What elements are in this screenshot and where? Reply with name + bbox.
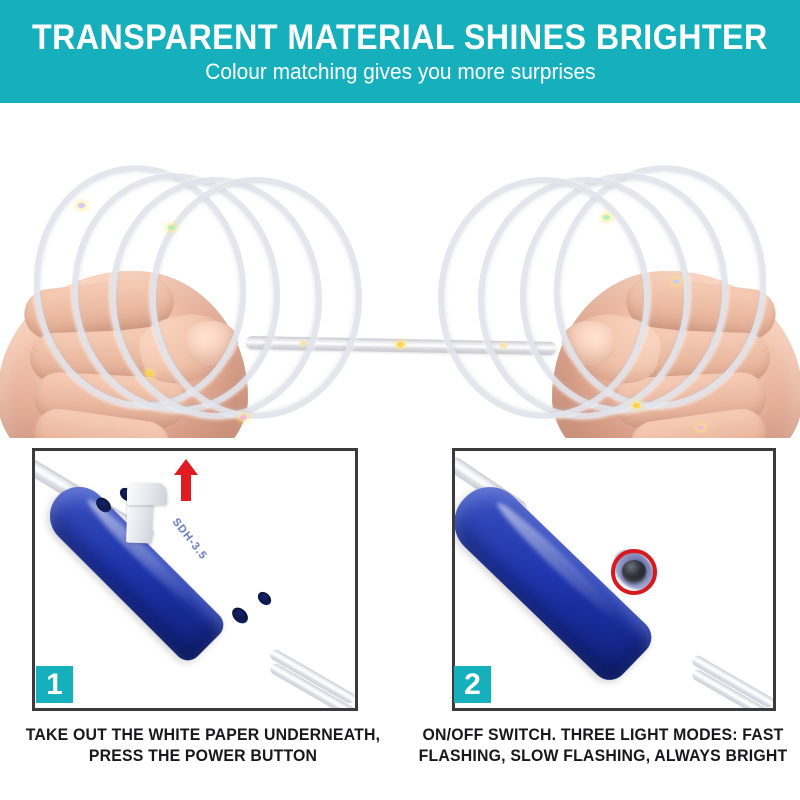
led-dot [673, 279, 680, 284]
product-infographic: TRANSPARENT MATERIAL SHINES BRIGHTER Col… [0, 0, 800, 800]
led-dot [240, 415, 247, 420]
step-1-caption-line-2: PRESS THE POWER BUTTON [14, 746, 392, 767]
led-tube-coil [150, 177, 362, 419]
step-1-number-badge: 1 [36, 666, 73, 703]
led-dot [78, 203, 85, 208]
housing-emboss-text: SDH-3.5 [170, 516, 210, 562]
led-dot [603, 215, 610, 220]
white-paper-tab-head [127, 483, 167, 505]
step-1-caption-line-1: TAKE OUT THE WHITE PAPER UNDERNEATH, [26, 726, 381, 744]
step-1-photo-panel: SDH-3.5 [32, 448, 358, 711]
step-2-caption: ON/OFF SWITCH. THREE LIGHT MODES: FAST F… [416, 725, 790, 767]
led-cable [268, 662, 357, 711]
led-dot [397, 342, 404, 347]
housing-screw [255, 589, 273, 607]
step-2-photo-panel [452, 448, 776, 711]
page-title: TRANSPARENT MATERIAL SHINES BRIGHTER [32, 19, 768, 57]
red-up-arrow-icon [173, 459, 199, 501]
led-dot [168, 225, 175, 230]
led-tube-coil [438, 177, 650, 419]
hero-photo [0, 103, 800, 438]
header-banner: TRANSPARENT MATERIAL SHINES BRIGHTER Col… [0, 0, 800, 103]
led-dot [697, 425, 704, 430]
step-2-caption-line-2: FLASHING, SLOW FLASHING, ALWAYS BRIGHT [416, 746, 790, 767]
led-dot [633, 403, 640, 408]
housing-screw [229, 605, 251, 627]
step-1-caption: TAKE OUT THE WHITE PAPER UNDERNEATH, PRE… [14, 725, 392, 767]
step-2-number-badge: 2 [454, 666, 491, 703]
step-2-caption-line-1: ON/OFF SWITCH. THREE LIGHT MODES: FAST [422, 726, 783, 744]
red-circle-highlight-icon [611, 549, 657, 595]
page-subtitle: Colour matching gives you more surprises [205, 59, 595, 85]
led-dot [146, 371, 153, 376]
